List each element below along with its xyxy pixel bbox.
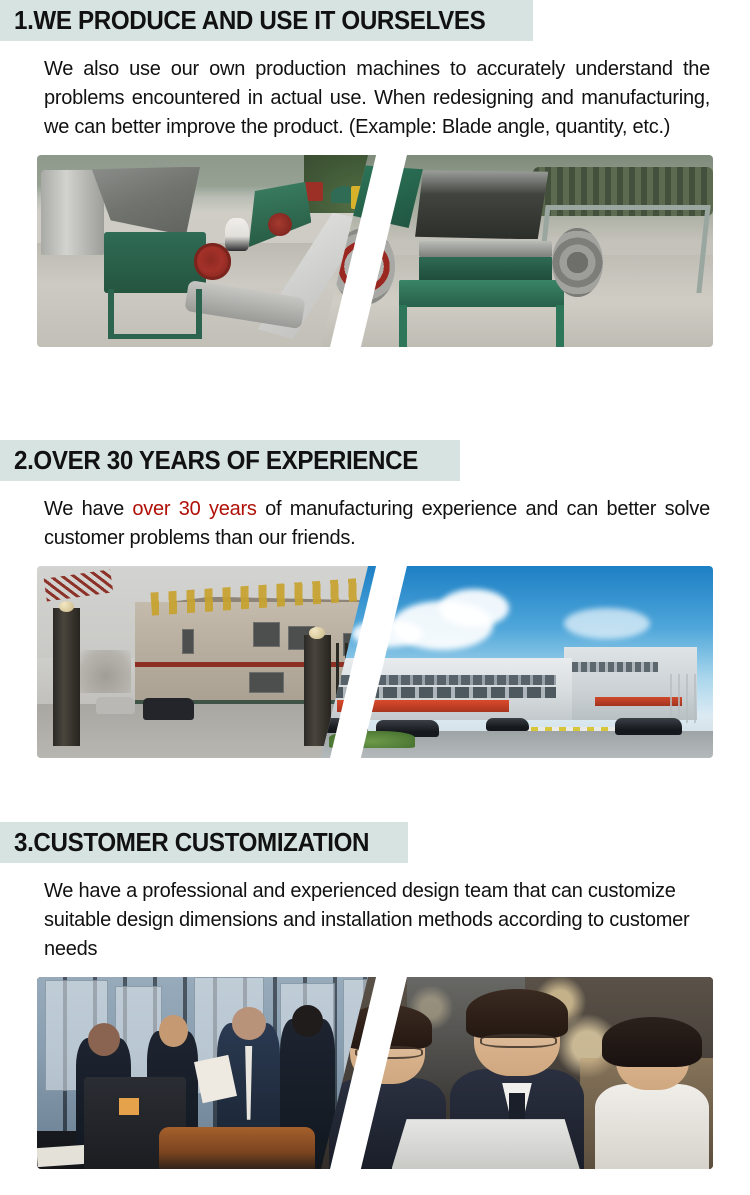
right-belt-pulley (552, 228, 603, 297)
gate-pillar-right (304, 635, 331, 746)
section-1-image-pair (37, 155, 713, 347)
parked-silver-car (96, 697, 135, 714)
white-shirt (240, 1046, 258, 1120)
product-feature-infographic: 1.WE PRODUCE AND USE IT OURSELVES We als… (0, 0, 750, 1195)
building-window (253, 622, 280, 647)
person-head (292, 1005, 323, 1037)
wooden-office-chair (159, 1127, 316, 1169)
parked-car (615, 718, 682, 735)
section-2-image-pair (37, 566, 713, 758)
section-3-image-pair (37, 977, 713, 1169)
machine-base-frame (399, 280, 564, 307)
feature-section-1: 1.WE PRODUCE AND USE IT OURSELVES We als… (0, 0, 750, 430)
second-crusher-pulley (268, 213, 292, 236)
red-canopy-secondary (595, 697, 681, 707)
section-1-heading: 1.WE PRODUCE AND USE IT OURSELVES (14, 6, 485, 34)
section-2-heading: 2.OVER 30 YEARS OF EXPERIENCE (14, 446, 418, 474)
building-window (249, 672, 284, 693)
parked-car (486, 718, 529, 731)
open-feed-chute (415, 170, 548, 239)
section-2-body-text: We have over 30 years of manufacturing e… (44, 495, 710, 553)
section-3-heading: 3.CUSTOMER CUSTOMIZATION (14, 828, 369, 856)
section-3-heading-bar: 3.CUSTOMER CUSTOMIZATION (0, 822, 408, 863)
bare-tree (80, 650, 131, 692)
window-band-right-wing (572, 662, 658, 672)
white-blouse (595, 1084, 709, 1169)
rotor-housing (419, 257, 552, 280)
section-2-text-part-1: We have (44, 498, 132, 520)
utility-pylon (670, 674, 701, 724)
person-hair (466, 989, 567, 1037)
feature-section-2: 2.OVER 30 YEARS OF EXPERIENCE We have ov… (0, 440, 750, 820)
sticky-note (119, 1098, 139, 1115)
person-head (159, 1015, 188, 1047)
eyeglasses-icon (480, 1034, 557, 1048)
red-belt-pulley (194, 243, 231, 279)
gate-pillar-finial (59, 601, 75, 613)
person-head (88, 1023, 120, 1056)
crusher-feed-hopper (92, 167, 210, 236)
crusher-frame-legs (108, 289, 202, 339)
section-1-heading-bar: 1.WE PRODUCE AND USE IT OURSELVES (0, 0, 533, 41)
cloud (439, 589, 510, 627)
section-2-highlight-years: over 30 years (132, 498, 256, 520)
section-1-body-text: We also use our own production machines … (44, 55, 710, 142)
person-head (232, 1007, 266, 1040)
cloud (564, 608, 650, 639)
section-3-body-text: We have a professional and experienced d… (44, 877, 710, 964)
colleague-right (595, 1023, 709, 1169)
laptop-computer (392, 1119, 580, 1169)
building-window (182, 629, 194, 654)
blade-mounting-bar (419, 241, 552, 256)
feature-section-3: 3.CUSTOMER CUSTOMIZATION We have a profe… (0, 822, 750, 1195)
gate-pillar-finial (309, 627, 325, 639)
parked-black-car (143, 698, 194, 719)
steel-silo (41, 170, 104, 254)
worker-figure (225, 218, 249, 251)
machine-legs (399, 305, 564, 347)
gate-pillar-left (53, 608, 80, 746)
person-hair (602, 1017, 702, 1067)
section-2-heading-bar: 2.OVER 30 YEARS OF EXPERIENCE (0, 440, 460, 481)
